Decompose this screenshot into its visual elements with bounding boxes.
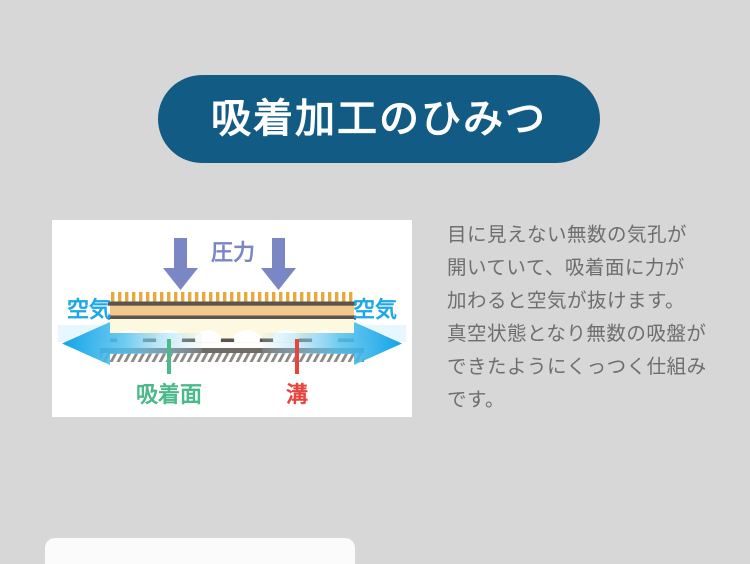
adhesion-diagram-panel: 圧力 xyxy=(52,220,412,417)
description-line: 目に見えない無数の気孔が xyxy=(447,218,715,251)
pressure-arrow-left-icon xyxy=(163,238,198,290)
description-line: です。 xyxy=(447,383,715,416)
pressure-label: 圧力 xyxy=(211,241,255,266)
description-text: 目に見えない無数の気孔が 開いていて、吸着面に力が 加わると空気が抜けます。 真… xyxy=(447,218,715,416)
groove-leader xyxy=(295,339,299,374)
air-label-right: 空気 xyxy=(353,297,397,323)
description-line: できたようにくっつく仕組み xyxy=(447,350,715,383)
title-banner: 吸着加工のひみつ xyxy=(158,75,600,163)
fiber-bristle-layer xyxy=(108,292,356,320)
page-title: 吸着加工のひみつ xyxy=(211,99,547,139)
air-label-left: 空気 xyxy=(67,297,111,323)
adhesive-surface-label: 吸着面 xyxy=(136,382,202,408)
pressure-arrow-right-icon xyxy=(261,238,296,290)
description-line: 開いていて、吸着面に力が xyxy=(447,251,715,284)
next-section-card-edge xyxy=(45,538,355,564)
description-line: 加わると空気が抜けます。 xyxy=(447,284,715,317)
description-line: 真空状態となり無数の吸盤が xyxy=(447,317,715,350)
adhesive-surface-leader xyxy=(167,339,171,374)
groove-label: 溝 xyxy=(286,382,308,408)
